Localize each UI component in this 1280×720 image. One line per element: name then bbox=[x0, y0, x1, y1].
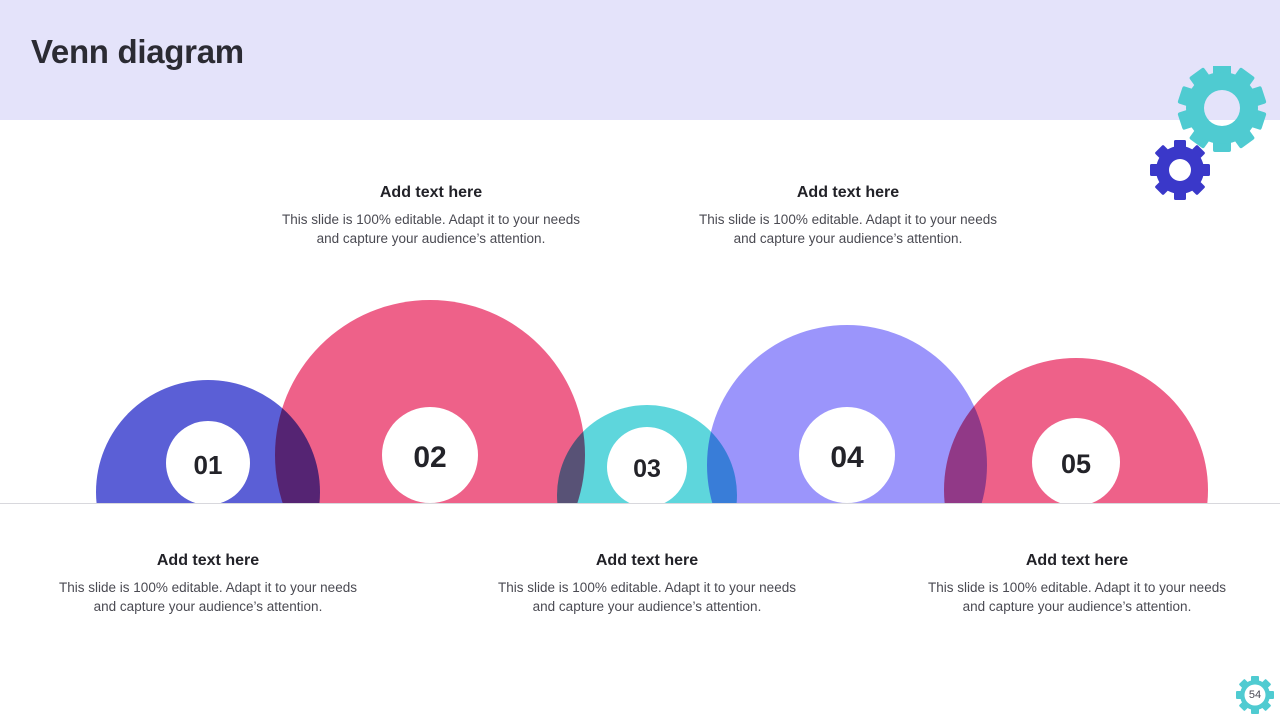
venn-baseline-divider bbox=[0, 503, 1280, 504]
venn-number-02: 02 bbox=[413, 441, 446, 474]
text-block-body: This slide is 100% editable. Adapt it to… bbox=[688, 210, 1008, 248]
venn-number-05: 05 bbox=[1061, 449, 1091, 479]
gear-small-icon bbox=[1150, 140, 1210, 200]
text-block-top-1: Add text here This slide is 100% editabl… bbox=[271, 183, 591, 249]
text-block-title: Add text here bbox=[487, 551, 807, 570]
gear-large-icon bbox=[1177, 66, 1266, 152]
venn-number-01: 01 bbox=[194, 450, 223, 480]
text-block-body: This slide is 100% editable. Adapt it to… bbox=[271, 210, 591, 248]
page-title: Venn diagram bbox=[31, 33, 244, 71]
text-block-title: Add text here bbox=[48, 551, 368, 570]
text-block-title: Add text here bbox=[917, 551, 1237, 570]
page-number: 54 bbox=[1236, 676, 1274, 714]
venn-number-03: 03 bbox=[633, 455, 661, 483]
venn-diagram: 0102030405 bbox=[0, 260, 1280, 504]
text-block-body: This slide is 100% editable. Adapt it to… bbox=[487, 578, 807, 616]
text-block-body: This slide is 100% editable. Adapt it to… bbox=[917, 578, 1237, 616]
text-block-bottom-1: Add text here This slide is 100% editabl… bbox=[48, 551, 368, 617]
text-block-title: Add text here bbox=[688, 183, 1008, 202]
text-block-top-2: Add text here This slide is 100% editabl… bbox=[688, 183, 1008, 249]
text-block-bottom-2: Add text here This slide is 100% editabl… bbox=[487, 551, 807, 617]
venn-number-04: 04 bbox=[830, 441, 864, 474]
text-block-body: This slide is 100% editable. Adapt it to… bbox=[48, 578, 368, 616]
gear-cluster bbox=[1144, 66, 1274, 200]
text-block-title: Add text here bbox=[271, 183, 591, 202]
text-block-bottom-3: Add text here This slide is 100% editabl… bbox=[917, 551, 1237, 617]
